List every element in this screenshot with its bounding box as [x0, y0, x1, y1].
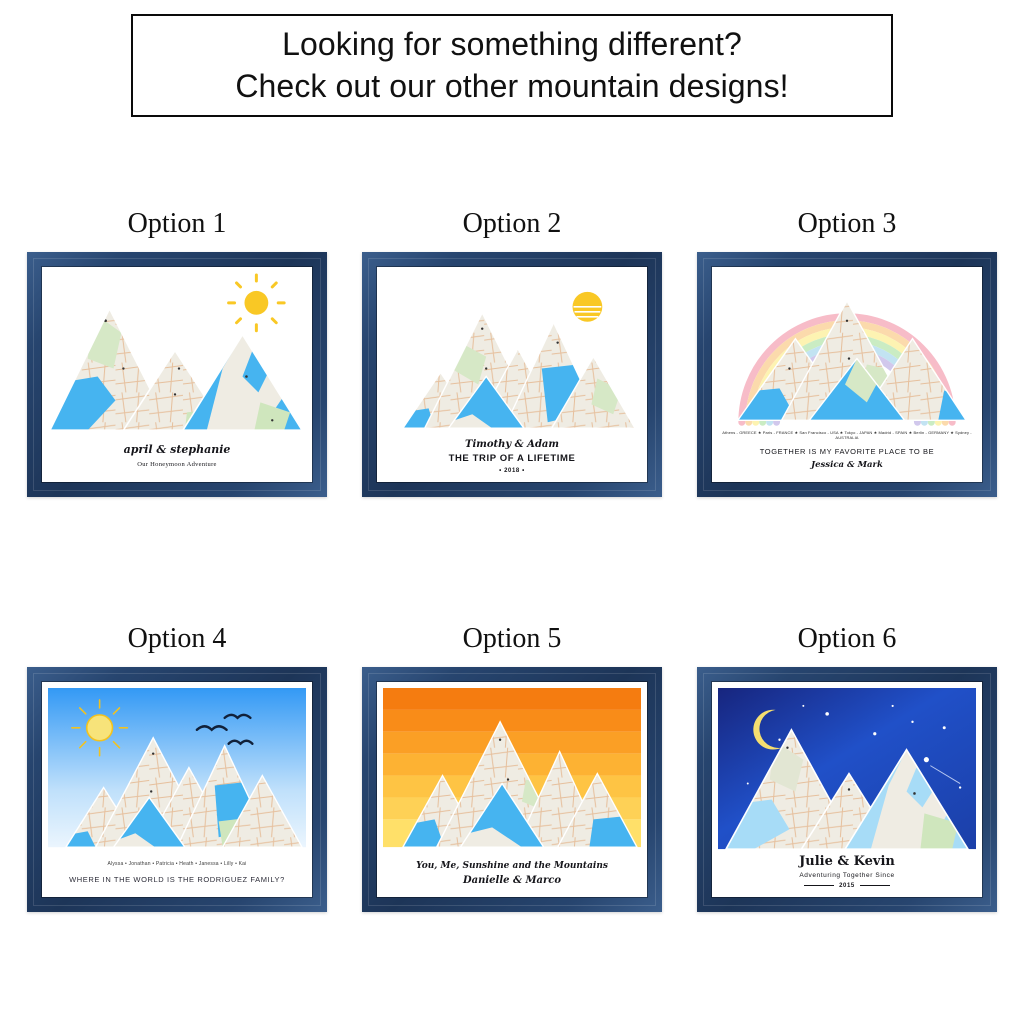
option-card-1[interactable]: Option 1	[27, 210, 327, 497]
sun-graphic	[229, 275, 285, 331]
caption-1-subtitle: Our Honeymoon Adventure	[42, 461, 312, 468]
retro-sun-graphic	[573, 292, 603, 322]
options-row-2: Option 4	[0, 625, 1024, 912]
banner-line-2: Check out our other mountain designs!	[235, 67, 788, 106]
frame-mat-6: Julie & Kevin Adventuring Together Since…	[712, 682, 982, 897]
picture-frame-2[interactable]: Timothy & Adam THE TRIP OF A LIFETIME • …	[362, 252, 662, 497]
page-root: Looking for something different? Check o…	[0, 0, 1024, 1024]
caption-6-names: Julie & Kevin	[712, 854, 982, 869]
banner-line-1: Looking for something different?	[282, 25, 742, 64]
option-label-6: Option 6	[798, 625, 897, 653]
option-label-3: Option 3	[798, 210, 897, 238]
caption-5-names: Danielle & Marco	[377, 875, 647, 886]
caption-6-year: 2015	[712, 883, 982, 889]
frame-mat-1: april & stephanie Our Honeymoon Adventur…	[42, 267, 312, 482]
option-card-5[interactable]: Option 5	[362, 625, 662, 912]
caption-2-title: THE TRIP OF A LIFETIME	[377, 453, 647, 464]
caption-4-title: WHERE IN THE WORLD IS THE RODRIGUEZ FAMI…	[42, 875, 312, 884]
caption-2-year: • 2018 •	[377, 468, 647, 474]
picture-frame-6[interactable]: Julie & Kevin Adventuring Together Since…	[697, 667, 997, 912]
picture-frame-1[interactable]: april & stephanie Our Honeymoon Adventur…	[27, 252, 327, 497]
options-grid: Option 1	[0, 210, 1024, 912]
option-card-3[interactable]: Option 3	[697, 210, 997, 497]
caption-1-names: april & stephanie	[42, 443, 312, 456]
caption-3-names: Jessica & Mark	[712, 460, 982, 470]
option-label-1: Option 1	[128, 210, 227, 238]
caption-3-city-list: Athens - GREECE ★ Paris - FRANCE ★ San F…	[712, 430, 982, 440]
sun-graphic	[72, 700, 128, 756]
caption-4-name-list: Alyssa • Jonathan • Patricia • Heath • J…	[42, 861, 312, 867]
option-label-5: Option 5	[463, 625, 562, 653]
option-card-4[interactable]: Option 4	[27, 625, 327, 912]
caption-2-names: Timothy & Adam	[377, 439, 647, 450]
frame-mat-4: Alyssa • Jonathan • Patricia • Heath • J…	[42, 682, 312, 897]
option-label-4: Option 4	[128, 625, 227, 653]
picture-frame-4[interactable]: Alyssa • Jonathan • Patricia • Heath • J…	[27, 667, 327, 912]
option-card-2[interactable]: Option 2	[362, 210, 662, 497]
artwork-3	[718, 273, 976, 476]
caption-5-quote: You, Me, Sunshine and the Mountains	[377, 861, 647, 871]
options-row-1: Option 1	[0, 210, 1024, 497]
promo-banner: Looking for something different? Check o…	[131, 14, 893, 117]
frame-mat-2: Timothy & Adam THE TRIP OF A LIFETIME • …	[377, 267, 647, 482]
picture-frame-5[interactable]: You, Me, Sunshine and the Mountains Dani…	[362, 667, 662, 912]
frame-mat-3: Athens - GREECE ★ Paris - FRANCE ★ San F…	[712, 267, 982, 482]
caption-6-subtitle: Adventuring Together Since	[712, 872, 982, 879]
option-label-2: Option 2	[463, 210, 562, 238]
option-card-6[interactable]: Option 6	[697, 625, 997, 912]
picture-frame-3[interactable]: Athens - GREECE ★ Paris - FRANCE ★ San F…	[697, 252, 997, 497]
frame-mat-5: You, Me, Sunshine and the Mountains Dani…	[377, 682, 647, 897]
caption-3-quote: TOGETHER IS MY FAVORITE PLACE TO BE	[712, 447, 982, 456]
